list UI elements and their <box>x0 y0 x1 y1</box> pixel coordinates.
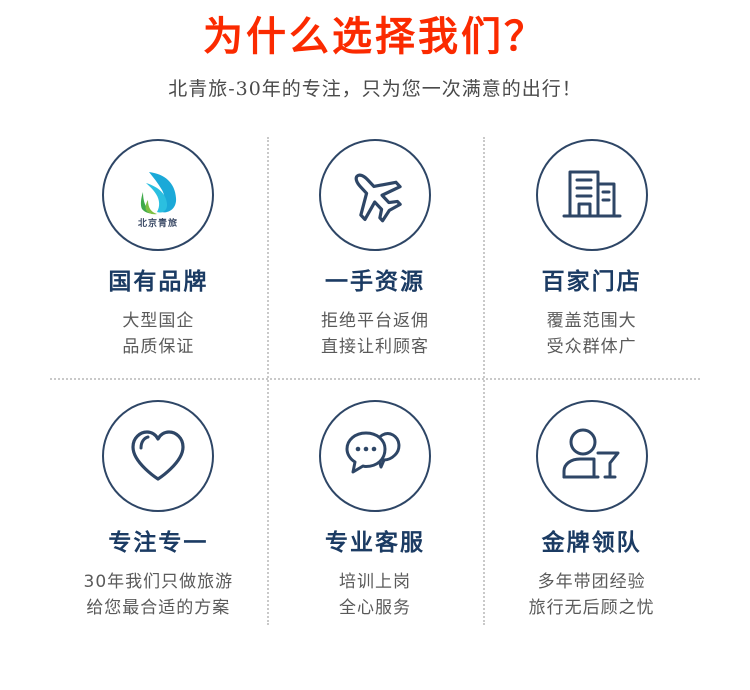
icon-circle <box>536 139 648 251</box>
feature-title: 一手资源 <box>325 269 425 294</box>
icon-circle <box>536 400 648 512</box>
page-subtitle: 北青旅-30年的专注，只为您一次满意的出行！ <box>0 78 750 101</box>
promo-page: 为什么选择我们？ 北青旅-30年的专注，只为您一次满意的出行！ 北京青旅 国 <box>0 0 750 690</box>
feature-description: 拒绝平台返佣 直接让利顾客 <box>321 308 429 361</box>
icon-circle <box>102 400 214 512</box>
feature-title: 专注专一 <box>108 530 208 555</box>
icon-circle <box>319 139 431 251</box>
feature-desc-line-2: 受众群体广 <box>547 334 637 360</box>
heart-icon <box>127 427 189 485</box>
feature-desc-line-1: 30年我们只做旅游 <box>84 569 234 595</box>
feature-description: 培训上岗 全心服务 <box>339 569 411 622</box>
feature-card-tour-leader: 金牌领队 多年带团经验 旅行无后顾之忧 <box>483 378 700 633</box>
feature-desc-line-1: 培训上岗 <box>339 569 411 595</box>
feature-card-hundred-stores: 百家门店 覆盖范围大 受众群体广 <box>483 123 700 378</box>
tour-leader-flag-icon <box>560 427 624 485</box>
feature-desc-line-1: 多年带团经验 <box>529 569 655 595</box>
feature-description: 多年带团经验 旅行无后顾之忧 <box>529 569 655 622</box>
feature-title: 专业客服 <box>325 530 425 555</box>
feature-desc-line-1: 覆盖范围大 <box>547 308 637 334</box>
beijing-youth-travel-logo-icon: 北京青旅 <box>119 156 197 234</box>
feature-desc-line-2: 旅行无后顾之忧 <box>529 595 655 621</box>
feature-title: 金牌领队 <box>542 530 642 555</box>
icon-circle: 北京青旅 <box>102 139 214 251</box>
feature-card-state-brand: 北京青旅 国有品牌 大型国企 品质保证 <box>50 123 267 378</box>
feature-card-dedication: 专注专一 30年我们只做旅游 给您最合适的方案 <box>50 378 267 633</box>
feature-title: 国有品牌 <box>108 269 208 294</box>
store-building-icon <box>560 164 624 226</box>
feature-card-customer-service: 专业客服 培训上岗 全心服务 <box>267 378 484 633</box>
feature-desc-line-1: 拒绝平台返佣 <box>321 308 429 334</box>
svg-text:北京青旅: 北京青旅 <box>138 217 178 229</box>
airplane-icon <box>344 164 406 226</box>
feature-title: 百家门店 <box>542 269 642 294</box>
chat-bubbles-icon <box>343 427 407 485</box>
icon-circle <box>319 400 431 512</box>
feature-description: 30年我们只做旅游 给您最合适的方案 <box>84 569 234 622</box>
feature-desc-line-2: 全心服务 <box>339 595 411 621</box>
feature-description: 覆盖范围大 受众群体广 <box>547 308 637 361</box>
header: 为什么选择我们？ 北青旅-30年的专注，只为您一次满意的出行！ <box>0 0 750 101</box>
feature-desc-line-2: 直接让利顾客 <box>321 334 429 360</box>
feature-desc-line-1: 大型国企 <box>122 308 194 334</box>
page-title: 为什么选择我们？ <box>0 14 750 60</box>
feature-description: 大型国企 品质保证 <box>122 308 194 361</box>
features-grid: 北京青旅 国有品牌 大型国企 品质保证 <box>50 123 700 633</box>
feature-desc-line-2: 品质保证 <box>122 334 194 360</box>
feature-card-first-hand-resources: 一手资源 拒绝平台返佣 直接让利顾客 <box>267 123 484 378</box>
feature-desc-line-2: 给您最合适的方案 <box>84 595 234 621</box>
